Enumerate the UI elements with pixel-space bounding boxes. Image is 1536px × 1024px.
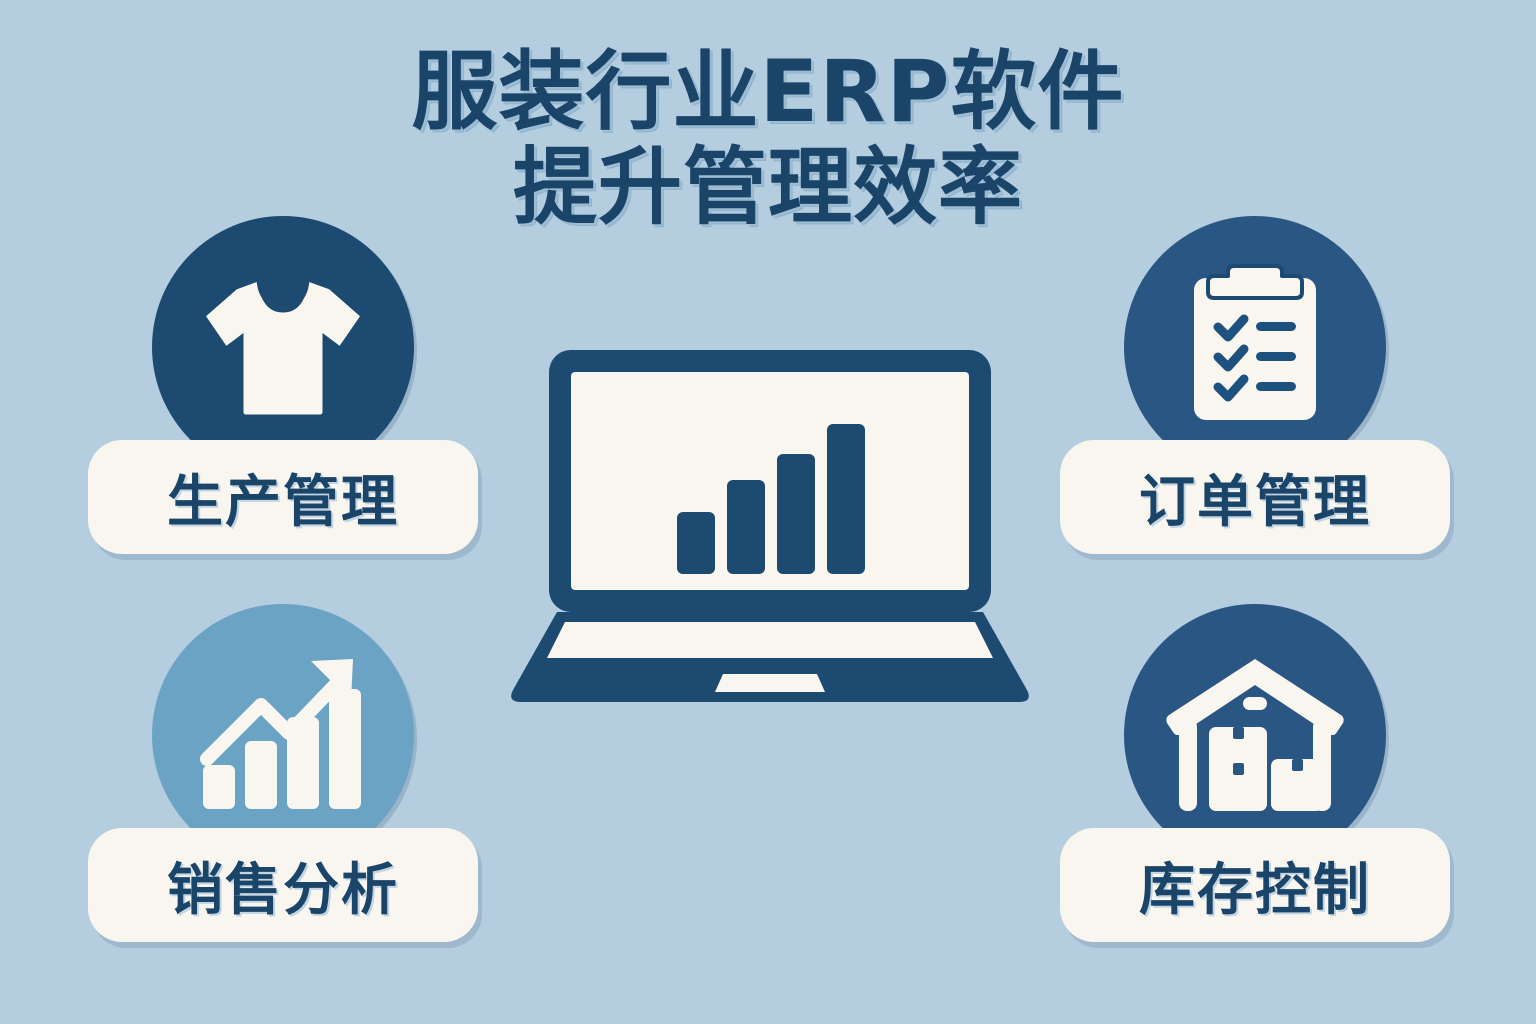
growth-chart-icon (193, 655, 373, 815)
icon-circle-wrap-production (88, 216, 478, 478)
feature-pill-sales[interactable]: 销售分析 (88, 828, 478, 942)
icon-circle-order (1124, 216, 1386, 478)
icon-circle-wrap-sales (88, 604, 478, 866)
warehouse-boxes-icon (1165, 653, 1345, 818)
title-line-1: 服装行业ERP软件 (0, 44, 1536, 140)
feature-label-sales: 销售分析 (167, 845, 399, 926)
feature-order[interactable]: 订单管理 (1060, 216, 1450, 554)
icon-circle-wrap-inventory (1060, 604, 1450, 866)
feature-inventory[interactable]: 库存控制 (1060, 604, 1450, 942)
feature-pill-inventory[interactable]: 库存控制 (1060, 828, 1450, 942)
feature-pill-production[interactable]: 生产管理 (88, 440, 478, 554)
icon-circle-sales (152, 604, 414, 866)
icon-circle-inventory (1124, 604, 1386, 866)
poster-canvas: 服装行业ERP软件 提升管理效率 生产管理 (0, 0, 1536, 1024)
clipboard-checklist-icon (1180, 262, 1330, 432)
feature-label-order: 订单管理 (1139, 457, 1371, 538)
feature-pill-order[interactable]: 订单管理 (1060, 440, 1450, 554)
icon-circle-production (152, 216, 414, 478)
tshirt-icon (198, 272, 368, 422)
feature-production[interactable]: 生产管理 (88, 216, 478, 554)
poster-title: 服装行业ERP软件 提升管理效率 (0, 44, 1536, 234)
feature-sales[interactable]: 销售分析 (88, 604, 478, 942)
icon-circle-wrap-order (1060, 216, 1450, 478)
feature-label-production: 生产管理 (167, 457, 399, 538)
laptop-bar-chart-icon (505, 340, 1035, 720)
laptop-illustration (505, 340, 1035, 720)
feature-label-inventory: 库存控制 (1139, 845, 1371, 926)
